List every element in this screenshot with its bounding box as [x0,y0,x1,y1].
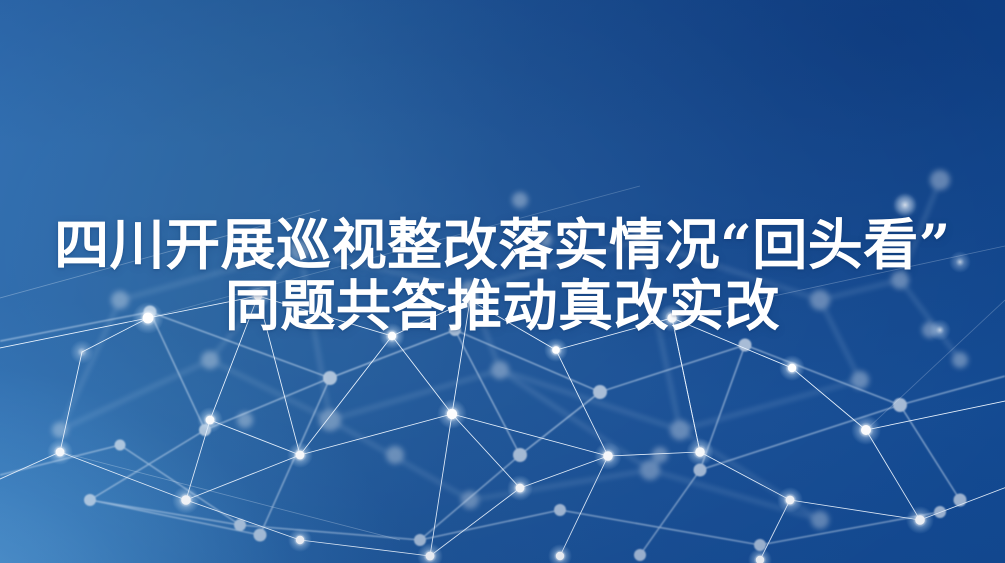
title-banner: 四川开展巡视整改落实情况“回头看” 同题共答推动真改实改 [0,0,1005,563]
background-vignette [0,0,1005,563]
